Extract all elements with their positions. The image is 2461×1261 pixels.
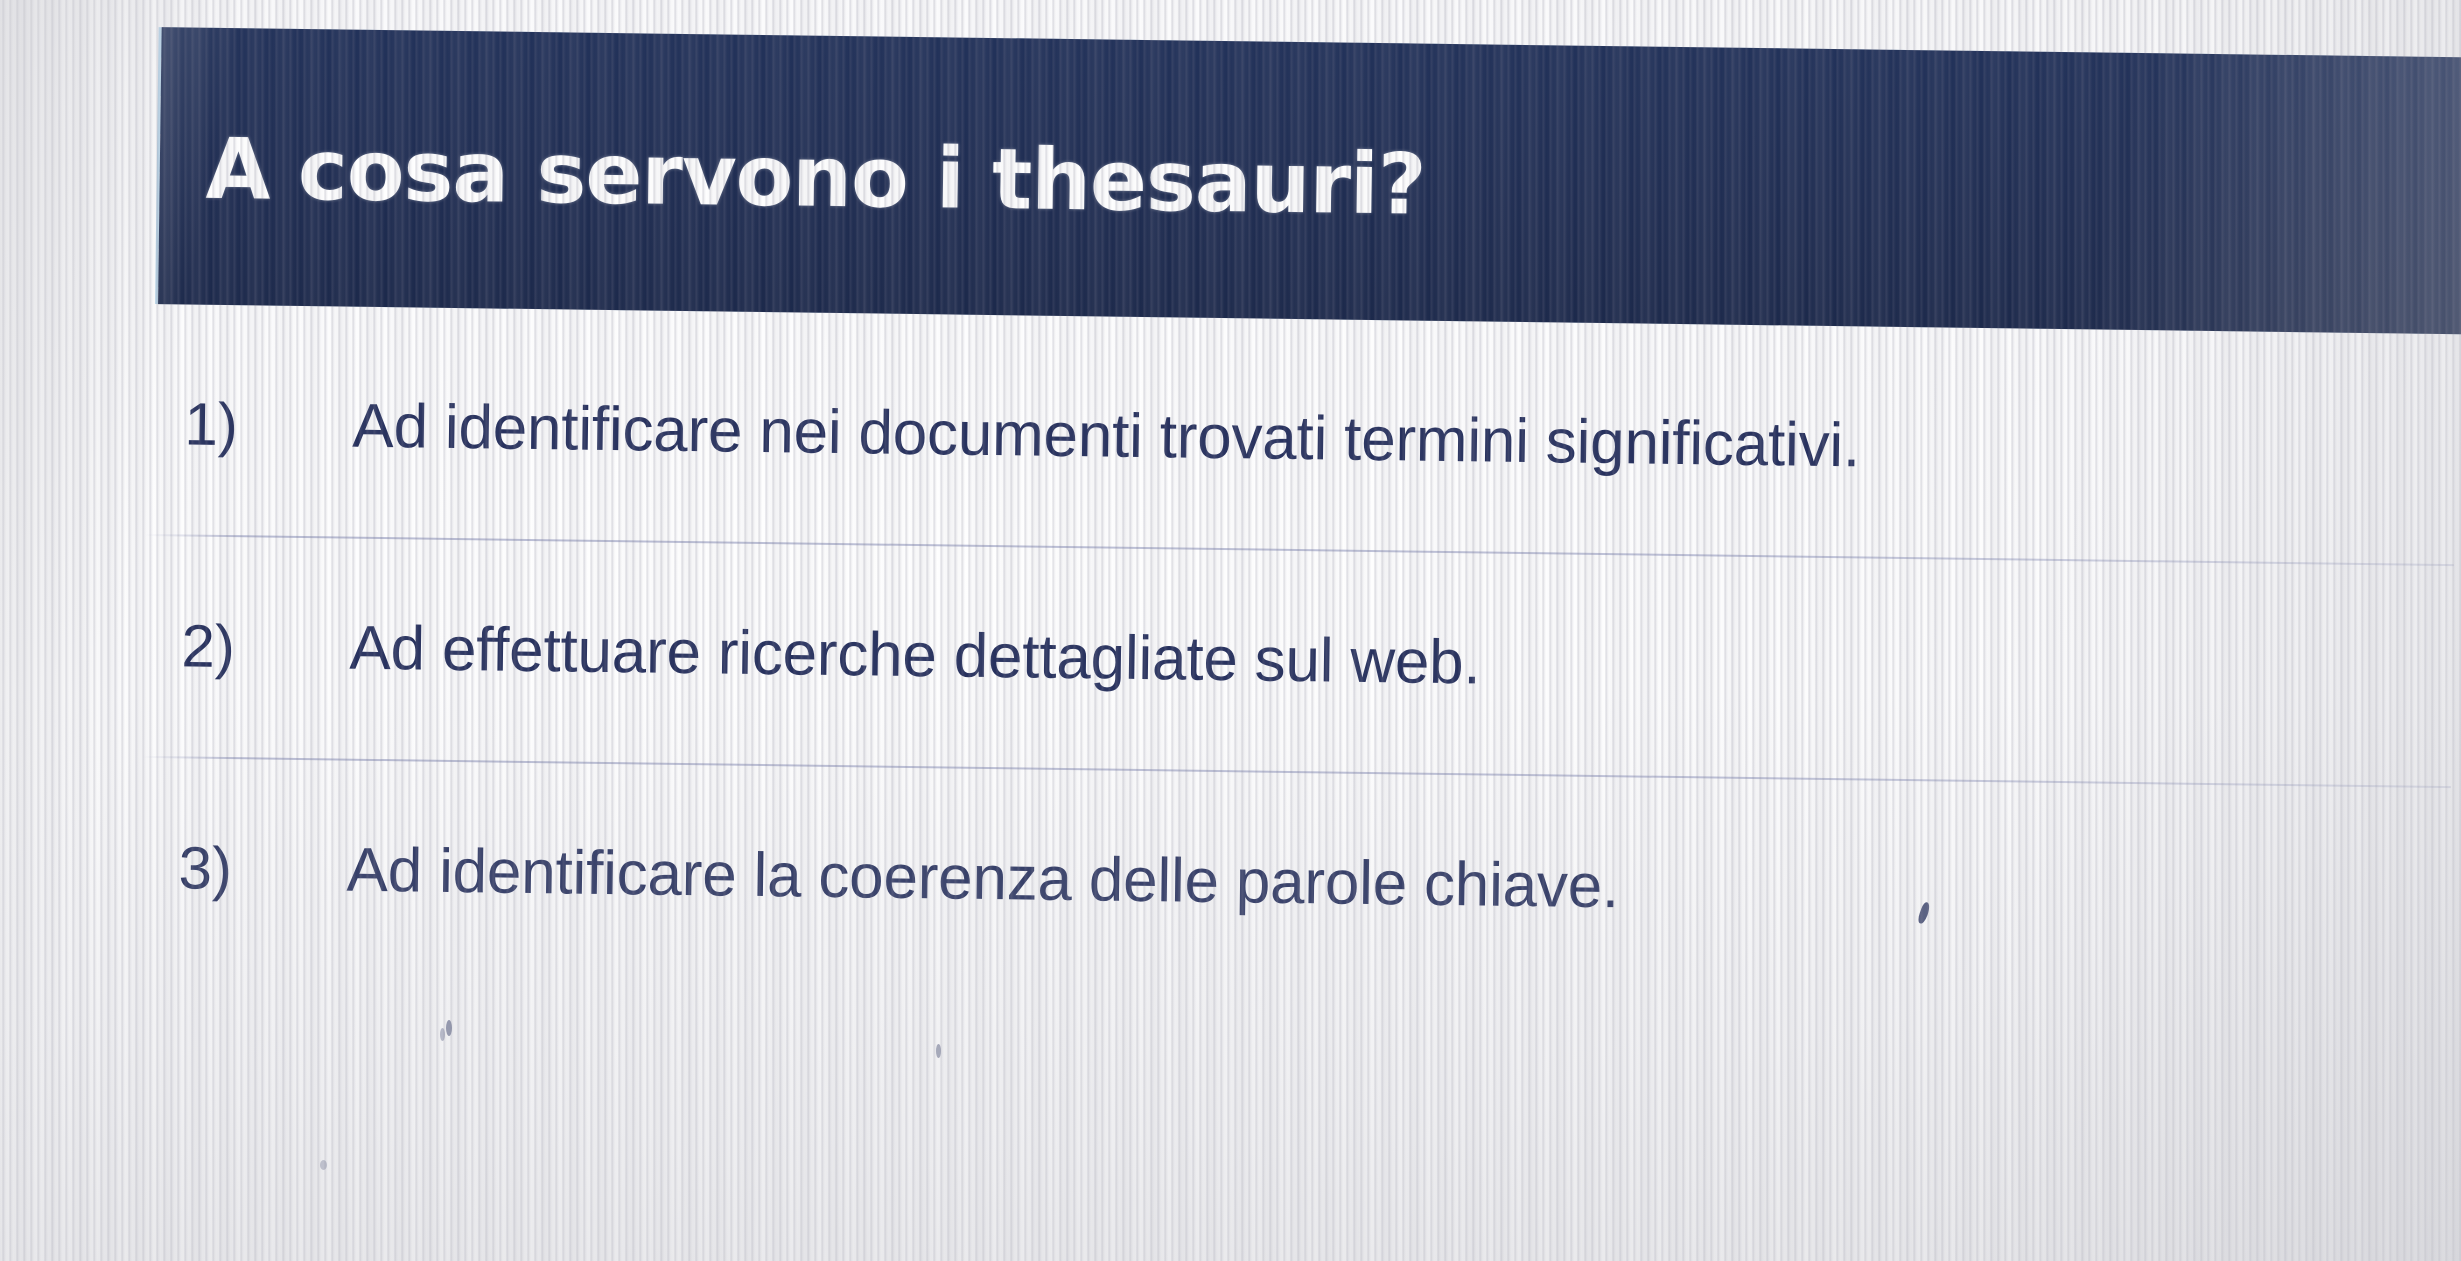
answer-text-1: Ad identificare nei documenti trovati te… [352,390,1860,481]
question-title: A cosa servono i thesauri? [205,119,1426,233]
dust-speck [320,1160,327,1170]
answer-text-3: Ad identificare la coerenza delle parole… [346,834,1619,922]
quiz-content: A cosa servono i thesauri? 1) Ad identif… [0,0,2461,1261]
answer-options-list: 1) Ad identificare nei documenti trovati… [0,310,2457,1008]
answer-index-3: 3) [178,833,347,904]
dust-speck [936,1044,941,1058]
question-header-banner: A cosa servono i thesauri? [158,27,2461,335]
answer-index-2: 2) [181,611,350,682]
screen-photograph: A cosa servono i thesauri? 1) Ad identif… [0,0,2461,1261]
answer-option-3[interactable]: 3) Ad identificare la coerenza delle par… [0,754,2451,1008]
answer-option-2[interactable]: 2) Ad effettuare ricerche dettagliate su… [0,532,2454,786]
answer-option-1[interactable]: 1) Ad identificare nei documenti trovati… [0,310,2457,564]
dust-speck [440,1028,445,1041]
dust-speck [446,1020,452,1036]
answer-index-1: 1) [184,389,353,460]
answer-text-2: Ad effettuare ricerche dettagliate sul w… [349,612,1481,698]
